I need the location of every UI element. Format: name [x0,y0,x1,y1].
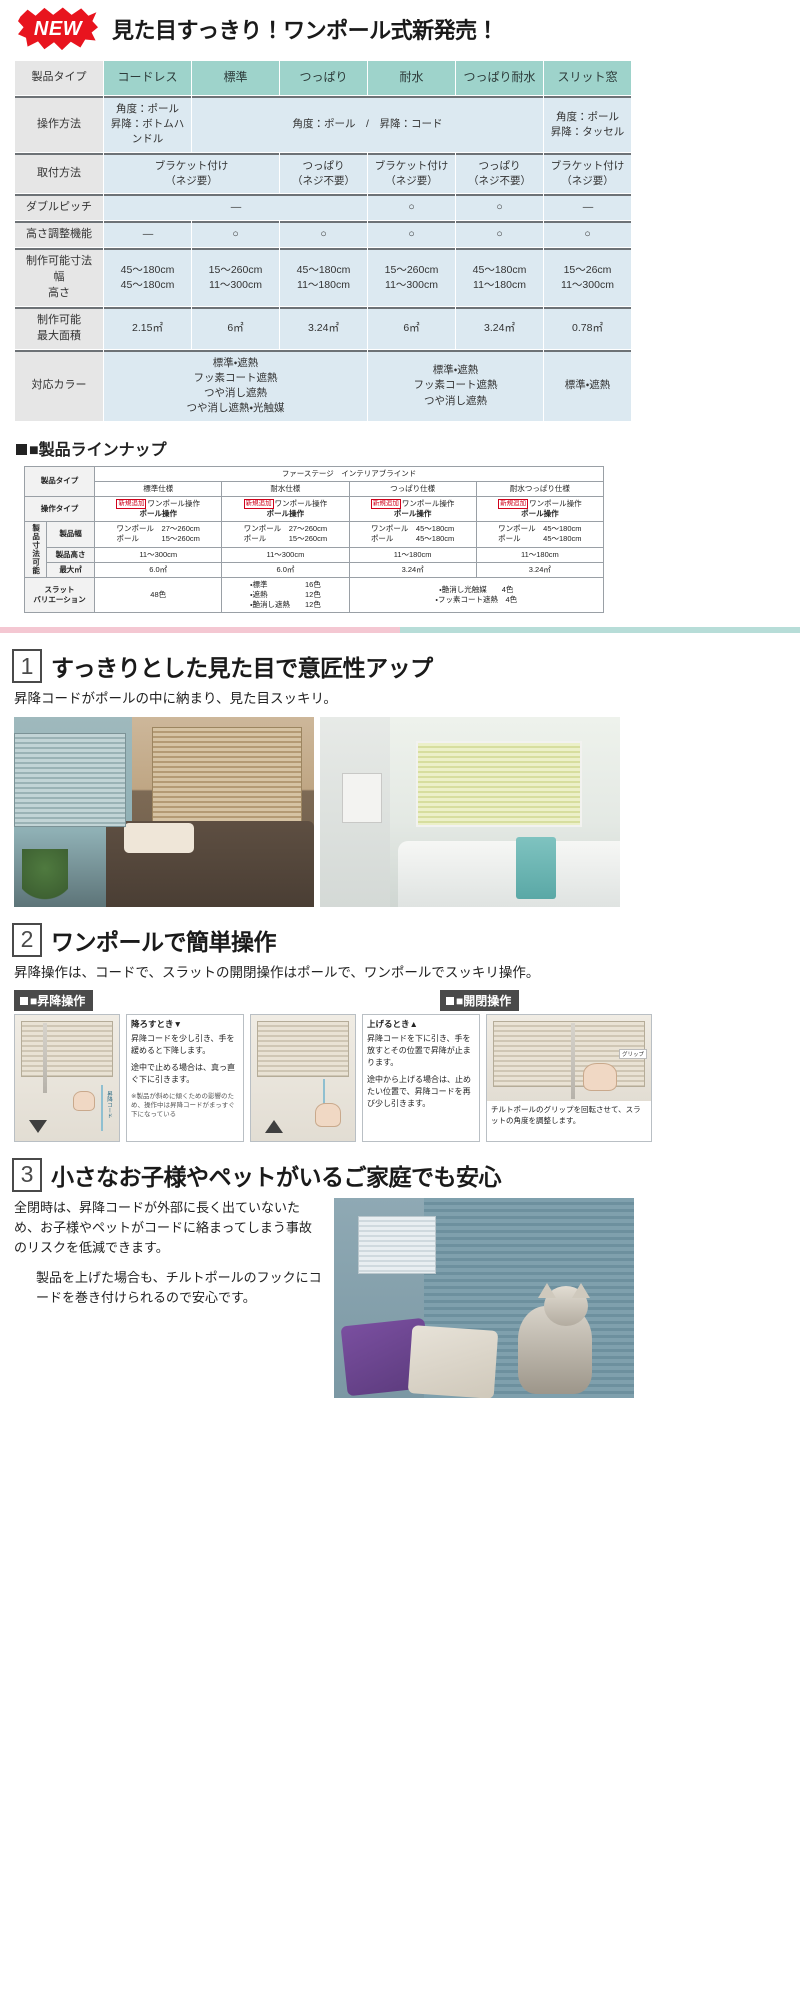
row-label-operation: 操作方法 [15,96,103,152]
square-bullet-icon [20,997,28,1005]
lineup-row-label-height: 製品高さ [47,547,95,562]
lineup-type-waterproof-tension: 耐水つっぱり仕様 [476,481,603,496]
cell-colors-0: 標準・遮熱 フッ素コート遮熱 つや消し遮熱 つや消し遮熱・光触媒 [104,350,367,421]
new-badge-small: 新規追加 [498,499,528,509]
section-2-heading: 2 ワンポールで簡単操作 [12,923,800,957]
bathtub-shape [398,841,620,907]
lineup-area-3: 3.24㎡ [476,562,603,577]
blind-image-bedroom [152,727,302,835]
section-2-lede: 昇降操作は、コードで、スラットの開閉操作はポールで、ワンポールでスッキリ操作。 [14,963,800,983]
new-badge-label: NEW [18,7,98,51]
lineup-area-0: 6.0㎡ [95,562,222,577]
section-1-heading: 1 すっきりとした見た目で意匠性アップ [12,649,800,683]
section-3-text: 全閉時は、昇降コードが外部に長く出ていないため、お子様やペットがコードに絡まって… [14,1198,324,1398]
lineup-op-std-3: ポール操作 [478,509,602,519]
row-label-max-area: 制作可能 最大面積 [15,307,103,349]
lineup-op-new-1: ワンポール操作 [275,499,328,508]
lineup-op-std-0: ポール操作 [96,509,220,519]
lower-text-2: 途中で止める場合は、真っ直ぐ下に引きます。 [131,1062,239,1086]
table-row: 対応カラー 標準・遮熱 フッ素コート遮熱 つや消し遮熱 つや消し遮熱・光触媒 標… [15,350,631,421]
lift-cord-illustration [101,1085,103,1131]
section-3-body: 全閉時は、昇降コードが外部に長く出ていないため、お子様やペットがコードに絡まって… [14,1198,800,1398]
lift-operation-title: ■昇降操作 [14,990,93,1011]
photo-cat-room [334,1198,634,1398]
row-label-colors: 対応カラー [15,350,103,421]
operation-section: ■昇降操作 ■開閉操作 昇降コード [14,990,800,1142]
hand-illustration [73,1091,95,1111]
new-badge: NEW [18,7,98,51]
page-root: NEW 見た目すっきり！ワンポール式新発売！ 製品タイプ コードレス 標準 つっ… [0,0,800,2000]
cell-height-4: ○ [456,221,543,247]
row-label-mounting: 取付方法 [15,153,103,193]
cell-height-3: ○ [368,221,455,247]
blind-illustration [21,1021,113,1077]
cord-label: 昇降コード [105,1091,113,1119]
square-bullet-icon [446,997,454,1005]
lineup-height-0: 11〜300cm [95,547,222,562]
panel-raise-diagram [250,1014,356,1142]
cushion-beige [408,1325,499,1398]
lineup-type-row: 標準仕様 耐水仕様 つっぱり仕様 耐水つっぱり仕様 [25,481,604,496]
lineup-height-1: 11〜300cm [222,547,349,562]
cell-operation-1: 角度：ポール / 昇降：コード [192,96,543,152]
square-bullet-icon [16,444,27,455]
cell-dim-3: 15〜260cm 11〜300cm [368,248,455,306]
cell-mounting-3: つっぱり （ネジ不要） [456,153,543,193]
column-header-tension: つっぱり [280,61,367,95]
lineup-row-label-width: 製品幅 [47,522,95,547]
lineup-op-cell-1: 新規追加ワンポール操作 ポール操作 [222,496,349,521]
row-label-double-pitch: ダブルピッチ [15,194,103,220]
photo-bathroom [320,717,620,907]
lineup-slat-0: 48色 [95,578,222,613]
blind-image-bathroom [416,741,582,827]
tilt-text: チルトポールのグリップを回転させて、スラットの角度を調整します。 [487,1101,651,1130]
bath-control-panel [342,773,382,823]
cell-dim-5: 15〜26cm 11〜300cm [544,248,631,306]
table-row: 制作可能 最大面積 2.15㎡ 6㎡ 3.24㎡ 6㎡ 3.24㎡ 0.78㎡ [15,307,631,349]
lineup-op-new-0: ワンポール操作 [147,499,200,508]
cat-ear-right [572,1283,590,1298]
section-divider [0,627,800,633]
page-header: NEW 見た目すっきり！ワンポール式新発売！ [0,0,800,56]
tilt-pole-illustration [43,1023,47,1093]
lineup-op-cell-3: 新規追加ワンポール操作 ポール操作 [476,496,603,521]
lineup-height-2: 11〜180cm [349,547,476,562]
cell-doublepitch-0: — [104,194,367,220]
section-3-paragraph-1: 全閉時は、昇降コードが外部に長く出ていないため、お子様やペットがコードに絡まって… [14,1198,324,1258]
cell-colors-1: 標準・遮熱 フッ素コート遮熱 つや消し遮熱 [368,350,543,421]
lower-text-1: 昇降コードを少し引き、手を緩めると下降します。 [131,1033,239,1057]
cell-area-3: 6㎡ [368,307,455,349]
plant-shape [22,849,68,905]
lineup-op-cell-0: 新規追加ワンポール操作 ポール操作 [95,496,222,521]
section-1-number: 1 [12,649,42,683]
cell-doublepitch-3: — [544,194,631,220]
lineup-area-2: 3.24㎡ [349,562,476,577]
lineup-height-row: 製品高さ 11〜300cm 11〜300cm 11〜180cm 11〜180cm [25,547,604,562]
panel-tilt: グリップ チルトポールのグリップを回転させて、スラットの角度を調整します。 [486,1014,652,1142]
photo-bedroom [14,717,314,907]
lineup-type-waterproof: 耐水仕様 [222,481,349,496]
product-comparison-table: 製品タイプ コードレス 標準 つっぱり 耐水 つっぱり耐水 スリット窓 操作方法… [14,60,632,422]
arrow-up-icon [265,1120,283,1133]
table-corner-label: 製品タイプ [15,61,103,95]
column-header-tension-waterproof: つっぱり耐水 [456,61,543,95]
divider-teal [400,627,800,633]
divider-pink [0,627,400,633]
cell-colors-2: 標準・遮熱 [544,350,631,421]
section-1-title: すっきりとした見た目で意匠性アップ [51,649,433,683]
lineup-op-new-3: ワンポール操作 [529,499,582,508]
raise-text-1: 昇降コードを下に引き、手を放すとその位置で昇降が止まります。 [367,1033,475,1069]
table-header-row: 製品タイプ コードレス 標準 つっぱり 耐水 つっぱり耐水 スリット窓 [15,61,631,95]
cell-operation-2: 角度：ポール 昇降：タッセル [544,96,631,152]
lineup-operation-label: 操作タイプ [25,496,95,521]
lower-note: ※製品が斜めに傾くための影響のため、操作中は昇降コードがまっすぐ下になっている [131,1092,239,1119]
column-header-waterproof: 耐水 [368,61,455,95]
cell-operation-0: 角度：ポール 昇降：ボトムハンドル [104,96,191,152]
lineup-type-label: 製品タイプ [25,466,95,496]
cell-mounting-2: ブラケット付け （ネジ要） [368,153,455,193]
lineup-op-std-1: ポール操作 [223,509,347,519]
lineup-width-3: ワンポール 45〜180cm ポール 45〜180cm [476,522,603,547]
lineup-spec-group-text: 製品寸法可能 [30,524,40,575]
column-header-slit-window: スリット窓 [544,61,631,95]
column-header-standard: 標準 [192,61,279,95]
lineup-slat-1: ・標準 16色 ・遮熱 12色 ・艶消し遮熱 12色 [222,578,349,613]
cell-area-4: 3.24㎡ [456,307,543,349]
towel-shape [516,837,556,899]
table-row: 高さ調整機能 — ○ ○ ○ ○ ○ [15,221,631,247]
table-row: 制作可能寸法 幅 高さ 45〜180cm 45〜180cm 15〜260cm 1… [15,248,631,306]
lineup-width-2: ワンポール 45〜180cm ポール 45〜180cm [349,522,476,547]
cell-area-0: 2.15㎡ [104,307,191,349]
lineup-brand: ファーステージ インテリアブラインド [95,466,604,481]
cell-height-2: ○ [280,221,367,247]
section-3-number: 3 [12,1158,42,1192]
lineup-area-row: 最大㎡ 6.0㎡ 6.0㎡ 3.24㎡ 3.24㎡ [25,562,604,577]
pillow-shape [124,823,194,853]
blind-illustration [257,1021,349,1077]
page-title: 見た目すっきり！ワンポール式新発売！ [112,13,498,45]
lineup-op-new-2: ワンポール操作 [402,499,455,508]
cell-doublepitch-2: ○ [456,194,543,220]
lineup-width-0: ワンポール 27〜260cm ポール 15〜260cm [95,522,222,547]
section-2-title: ワンポールで簡単操作 [51,923,276,957]
lineup-width-1: ワンポール 27〜260cm ポール 15〜260cm [222,522,349,547]
lineup-area-1: 6.0㎡ [222,562,349,577]
new-badge-small: 新規追加 [116,499,146,509]
section-1-lede: 昇降コードがポールの中に納まり、見た目スッキリ。 [14,689,800,709]
table-row: 操作方法 角度：ポール 昇降：ボトムハンドル 角度：ポール / 昇降：コード 角… [15,96,631,152]
lineup-width-row: 製品寸法可能 製品幅 ワンポール 27〜260cm ポール 15〜260cm ワ… [25,522,604,547]
cell-mounting-0: ブラケット付け （ネジ要） [104,153,279,193]
table-row: ダブルピッチ — ○ ○ — [15,194,631,220]
tilt-pole-illustration [571,1023,575,1099]
lineup-operation-row: 操作タイプ 新規追加ワンポール操作 ポール操作 新規追加ワンポール操作 ポール操… [25,496,604,521]
cell-mounting-4: ブラケット付け （ネジ要） [544,153,631,193]
lineup-height-3: 11〜180cm [476,547,603,562]
lineup-type-tension: つっぱり仕様 [349,481,476,496]
hand-illustration [583,1063,617,1091]
cell-doublepitch-1: ○ [368,194,455,220]
section-2-number: 2 [12,923,42,957]
cell-height-1: ○ [192,221,279,247]
lineup-type-standard: 標準仕様 [95,481,222,496]
panel-raise-text: 上げるとき▲ 昇降コードを下に引き、手を放すとその位置で昇降が止まります。 途中… [362,1014,480,1142]
lineup-brand-row: 製品タイプ ファーステージ インテリアブラインド [25,466,604,481]
new-badge-small: 新規追加 [371,499,401,509]
tilt-operation-title: ■開閉操作 [440,990,519,1011]
cell-area-5: 0.78㎡ [544,307,631,349]
lift-operation-title-text: ■昇降操作 [30,994,85,1008]
lineup-slat-row: スラット バリエーション 48色 ・標準 16色 ・遮熱 12色 ・艶消し遮熱 … [25,578,604,613]
lineup-heading-text: ■製品ラインナップ [29,442,167,459]
raise-text-2: 途中から上げる場合は、止めたい位置で、昇降コードを再び少し引きます。 [367,1074,475,1110]
grip-label: グリップ [619,1049,647,1059]
tilt-illustration: グリップ [487,1015,651,1101]
product-lineup-table: 製品タイプ ファーステージ インテリアブラインド 標準仕様 耐水仕様 つっぱり仕… [24,466,604,614]
section-1-photos [14,717,800,907]
operation-panels: 昇降コード 降ろすとき▼ 昇降コードを少し引き、手を緩めると下降します。 途中で… [14,1014,800,1142]
cat-ear-left [538,1283,556,1298]
column-header-cordless: コードレス [104,61,191,95]
cell-height-0: — [104,221,191,247]
cell-height-5: ○ [544,221,631,247]
row-label-height-adjust: 高さ調整機能 [15,221,103,247]
table-row: 取付方法 ブラケット付け （ネジ要） つっぱり （ネジ不要） ブラケット付け （… [15,153,631,193]
lineup-spec-group-label: 製品寸法可能 [25,522,47,578]
cell-area-1: 6㎡ [192,307,279,349]
lower-illustration: 昇降コード [15,1015,119,1141]
cell-dim-0: 45〜180cm 45〜180cm [104,248,191,306]
blind-image-small [358,1216,436,1274]
lineup-op-std-2: ポール操作 [351,509,475,519]
raise-caption: 上げるとき▲ [367,1018,475,1031]
cell-dim-4: 45〜180cm 11〜180cm [456,248,543,306]
cell-area-2: 3.24㎡ [280,307,367,349]
lineup-slat-2: ・艶消し光触媒 4色 ・フッ素コート遮熱 4色 [349,578,603,613]
lower-caption: 降ろすとき▼ [131,1018,239,1031]
new-badge-small: 新規追加 [244,499,274,509]
section-3-heading: 3 小さなお子様やペットがいるご家庭でも安心 [12,1158,800,1192]
section-3-paragraph-2: 製品を上げた場合も、チルトポールのフックにコードを巻き付けられるので安心です。 [36,1268,324,1308]
lineup-heading: ■製品ラインナップ [16,436,800,460]
cell-mounting-1: つっぱり （ネジ不要） [280,153,367,193]
lineup-op-cell-2: 新規追加ワンポール操作 ポール操作 [349,496,476,521]
raise-illustration [251,1015,355,1141]
cell-dim-1: 15〜260cm 11〜300cm [192,248,279,306]
row-label-dimensions: 制作可能寸法 幅 高さ [15,248,103,306]
arrow-down-icon [29,1120,47,1133]
hand-illustration [315,1103,341,1127]
tilt-operation-title-text: ■開閉操作 [456,994,511,1008]
panel-lower-diagram: 昇降コード [14,1014,120,1142]
section-3-title: 小さなお子様やペットがいるご家庭でも安心 [51,1158,501,1192]
cell-dim-2: 45〜180cm 11〜180cm [280,248,367,306]
lineup-row-label-area: 最大㎡ [47,562,95,577]
lineup-slat-label: スラット バリエーション [25,578,95,613]
panel-lower-text: 降ろすとき▼ 昇降コードを少し引き、手を緩めると下降します。 途中で止める場合は… [126,1014,244,1142]
